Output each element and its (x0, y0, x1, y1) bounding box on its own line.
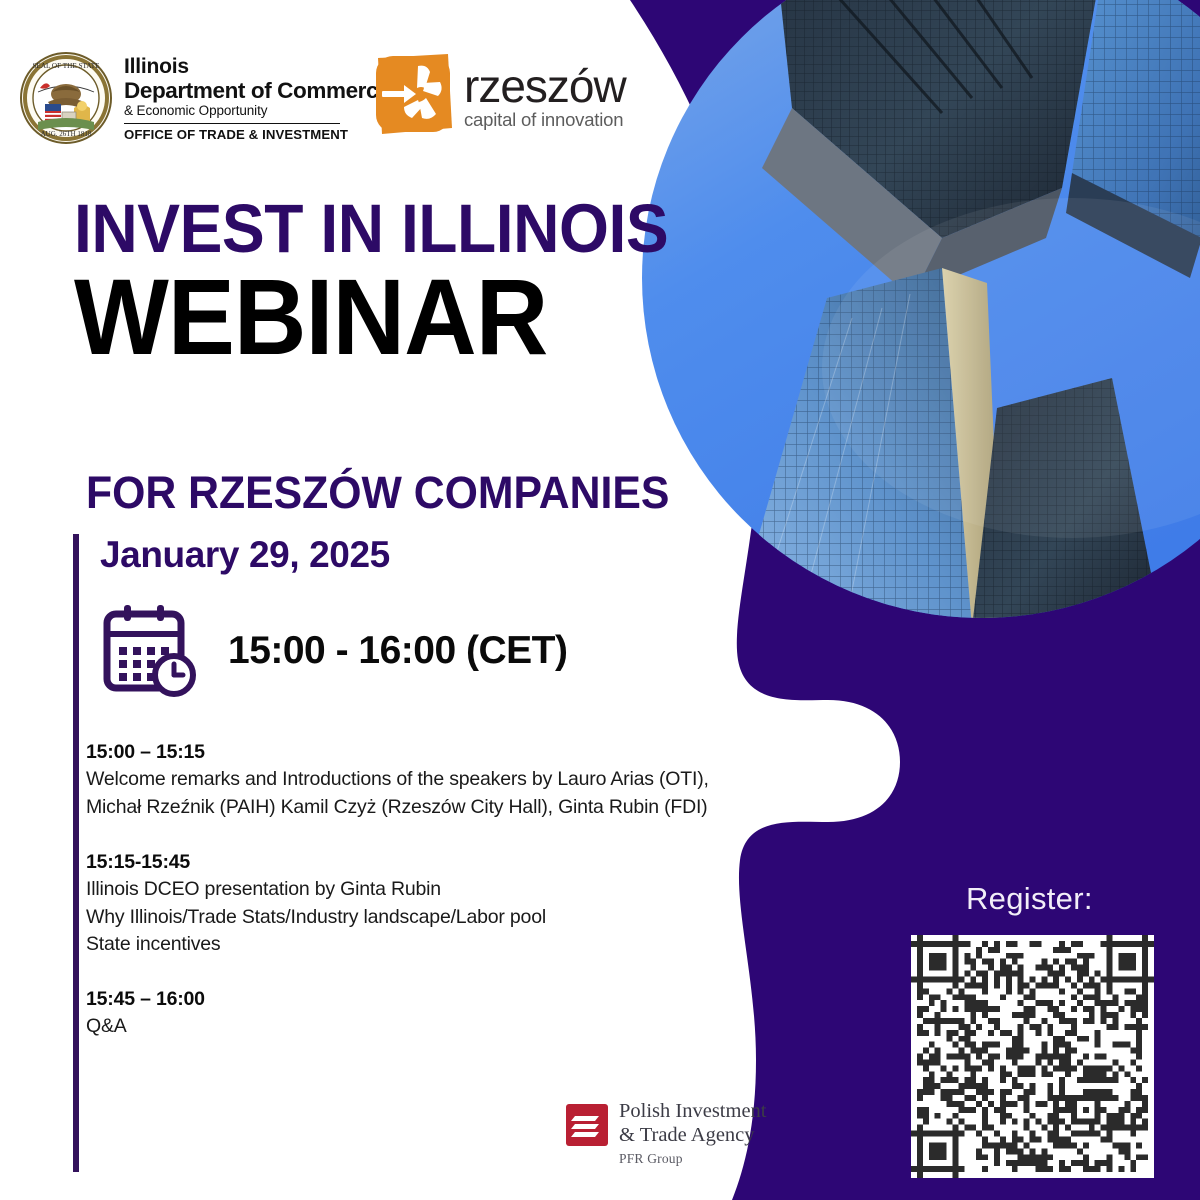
agenda-item-desc: Q&A (86, 1013, 746, 1041)
agenda-item-time: 15:00 – 15:15 (86, 738, 746, 766)
headline-line2: WEBINAR (74, 266, 632, 369)
illinois-line4: OFFICE OF TRADE & INVESTMENT (124, 127, 390, 142)
agenda-item: 15:45 – 16:00 Q&A (86, 985, 746, 1041)
paih-line2: & Trade Agency (619, 1124, 766, 1148)
event-time-row: 15:00 - 16:00 (CET) (100, 603, 567, 699)
rzeszow-mark-icon (366, 52, 456, 140)
paih-line1: Polish Investment (619, 1100, 766, 1124)
illinois-divider (124, 123, 340, 124)
calendar-clock-icon (100, 603, 204, 699)
headline-subhead: FOR RZESZÓW COMPANIES (86, 467, 669, 519)
headline-block: INVEST IN ILLINOIS WEBINAR (74, 196, 674, 369)
agenda-item-desc: Welcome remarks and Introductions of the… (86, 766, 746, 821)
state-seal-icon: SEAL OF THE STATE AUG. 26TH 1818 (18, 50, 114, 146)
illinois-dceo-logo: SEAL OF THE STATE AUG. 26TH 1818 (18, 50, 390, 146)
rzeszow-logo: rzeszów capital of innovation (366, 52, 626, 140)
qr-code-icon[interactable] (911, 935, 1154, 1178)
paih-line3: PFR Group (619, 1151, 766, 1167)
illinois-line1: Illinois (124, 56, 390, 78)
rzeszow-name: rzeszów (464, 65, 626, 107)
svg-text:AUG. 26TH 1818: AUG. 26TH 1818 (41, 130, 92, 138)
header-logos: SEAL OF THE STATE AUG. 26TH 1818 (0, 0, 660, 150)
agenda-item: 15:00 – 15:15 Welcome remarks and Introd… (86, 738, 746, 822)
agenda-item-time: 15:15-15:45 (86, 848, 746, 876)
paih-mark-icon (566, 1104, 608, 1146)
agenda-item: 15:15-15:45 Illinois DCEO presentation b… (86, 848, 746, 959)
agenda-list: 15:00 – 15:15 Welcome remarks and Introd… (86, 738, 746, 1067)
rzeszow-tagline: capital of innovation (464, 109, 626, 131)
event-date: January 29, 2025 (100, 534, 390, 576)
accent-vertical-bar (73, 534, 79, 1172)
agenda-item-desc: Illinois DCEO presentation by Ginta Rubi… (86, 876, 746, 959)
illinois-line2: Department of Commerce (124, 78, 390, 103)
paih-logo: Polish Investment & Trade Agency PFR Gro… (566, 1100, 766, 1167)
illinois-line3: & Economic Opportunity (124, 103, 390, 120)
register-label: Register: (966, 881, 1093, 917)
event-time: 15:00 - 16:00 (CET) (228, 629, 567, 673)
poster-canvas: SEAL OF THE STATE AUG. 26TH 1818 (0, 0, 1200, 1200)
svg-text:SEAL OF THE STATE: SEAL OF THE STATE (32, 62, 100, 70)
headline-line1: INVEST IN ILLINOIS (74, 196, 632, 262)
agenda-item-time: 15:45 – 16:00 (86, 985, 746, 1013)
